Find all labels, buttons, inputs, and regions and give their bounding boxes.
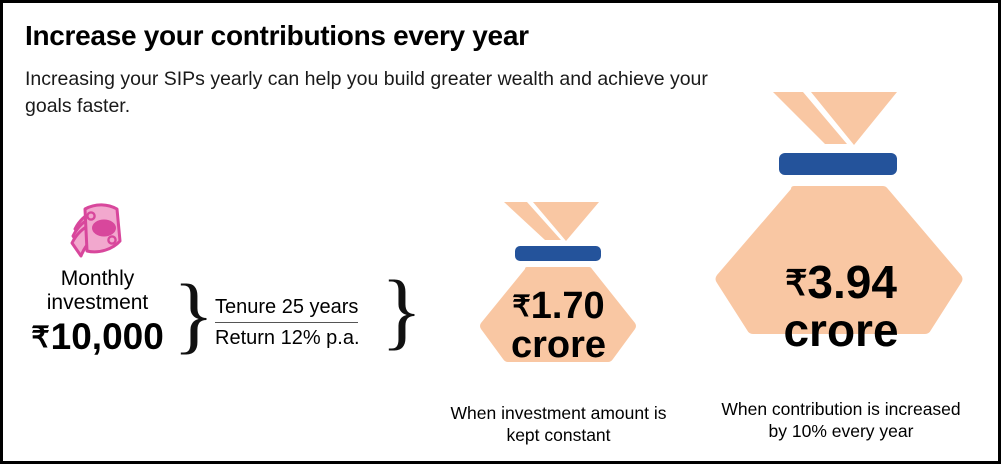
- money-bag-icon: [421, 199, 696, 389]
- monthly-investment-label-line2: investment: [47, 291, 149, 314]
- outcome-stepped-up-contribution: ₹3.94 crore When contribution is increas…: [681, 87, 1001, 442]
- monthly-investment-block: Monthly investment ₹10,000: [15, 199, 180, 357]
- outcome-caption-small: When investment amount is kept constant: [421, 402, 696, 446]
- brace-left: }: [173, 271, 214, 357]
- outcome-caption-large: When contribution is increased by 10% ev…: [681, 398, 1001, 442]
- outcome-caption-line2: kept constant: [506, 425, 610, 445]
- money-bag-small: ₹1.70 crore: [421, 199, 696, 394]
- infographic-card: Increase your contributions every year I…: [0, 0, 1001, 464]
- bag-body-icon: [480, 267, 636, 362]
- monthly-investment-label: Monthly investment: [15, 267, 180, 314]
- outcome-caption-line2: by 10% every year: [769, 421, 914, 441]
- bag-body-icon: [716, 186, 963, 334]
- outcome-caption-line1: When contribution is increased: [721, 399, 960, 419]
- assumptions-block: Tenure 25 years Return 12% p.a.: [215, 296, 375, 350]
- money-bag-large: ₹3.94 crore: [681, 87, 1001, 388]
- outcome-caption-line1: When investment amount is: [451, 403, 667, 423]
- outcome-constant-contribution: ₹1.70 crore When investment amount is ke…: [421, 199, 696, 446]
- page-subtitle: Increasing your SIPs yearly can help you…: [25, 66, 715, 121]
- tenure-text: Tenure 25 years: [215, 296, 358, 323]
- header: Increase your contributions every year I…: [25, 21, 745, 121]
- return-text: Return 12% p.a.: [215, 327, 375, 350]
- money-bag-icon: [681, 87, 1001, 383]
- cash-stack-icon: [63, 199, 133, 263]
- brace-right: }: [381, 267, 422, 353]
- rupee-symbol-icon: ₹: [31, 322, 49, 354]
- monthly-investment-value: 10,000: [51, 316, 164, 357]
- monthly-investment-amount: ₹10,000: [15, 316, 180, 357]
- bag-band-icon: [779, 153, 897, 175]
- page-title: Increase your contributions every year: [25, 21, 745, 52]
- monthly-investment-label-line1: Monthly: [61, 267, 135, 290]
- bag-band-icon: [515, 246, 601, 261]
